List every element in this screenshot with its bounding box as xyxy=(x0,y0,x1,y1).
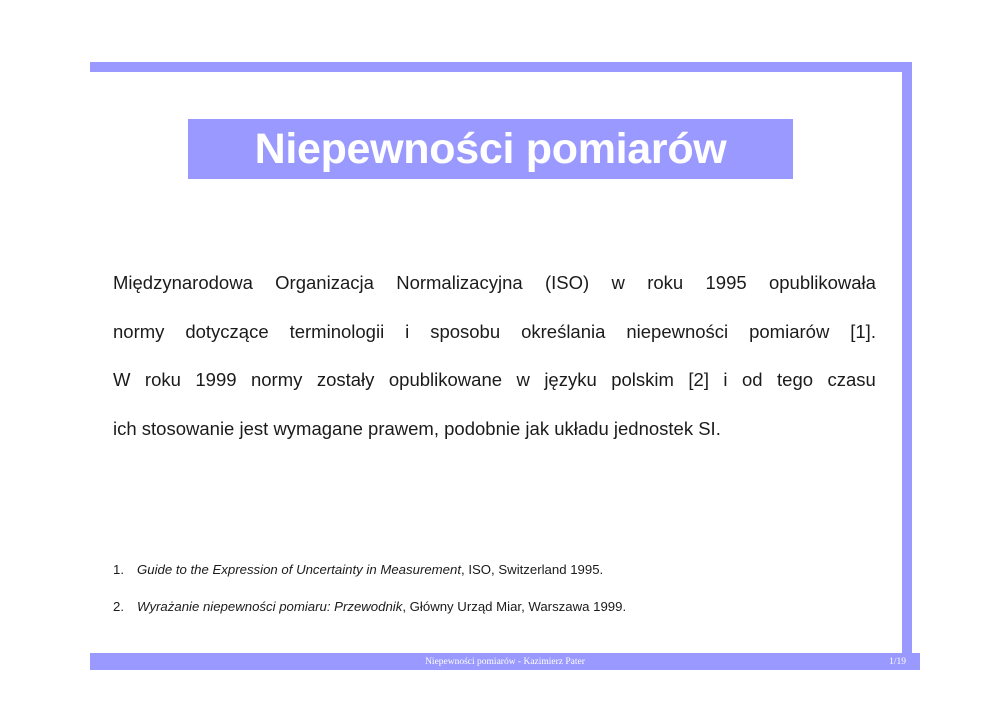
reference-details: , ISO, Switzerland 1995. xyxy=(461,562,603,577)
body-word: Międzynarodowa xyxy=(113,274,253,293)
body-word: pomiarów xyxy=(749,323,829,342)
body-word: jednostek xyxy=(614,420,693,439)
body-word: języku xyxy=(544,371,596,390)
body-word: określania xyxy=(521,323,605,342)
body-word: niepewności xyxy=(626,323,728,342)
slide-body: MiędzynarodowaOrganizacjaNormalizacyjna(… xyxy=(113,274,876,438)
footer-page-number: 1/19 xyxy=(889,653,906,670)
body-word: (ISO) xyxy=(545,274,589,293)
body-line-4: ich stosowanie jest wymagane prawem, pod… xyxy=(113,420,876,439)
body-word: sposobu xyxy=(430,323,500,342)
body-word: normy xyxy=(113,323,164,342)
body-word: opublikowane xyxy=(389,371,502,390)
body-word: w xyxy=(612,274,625,293)
body-word: SI. xyxy=(698,420,721,439)
body-word: opublikowała xyxy=(769,274,876,293)
body-word: podobnie xyxy=(444,420,520,439)
body-word: i xyxy=(723,371,727,390)
body-word: [2] xyxy=(688,371,709,390)
body-line-2: normydotycząceterminologiiisposobuokreśl… xyxy=(113,323,876,342)
body-word: Normalizacyjna xyxy=(396,274,522,293)
reference-title: Guide to the Expression of Uncertainty i… xyxy=(137,562,461,577)
body-word: jak xyxy=(525,420,549,439)
body-word: tego xyxy=(777,371,813,390)
reference-item: 1. Guide to the Expression of Uncertaint… xyxy=(113,563,883,576)
body-word: W xyxy=(113,371,130,390)
body-word: roku xyxy=(145,371,181,390)
slide-footer: Niepewności pomiarów - Kazimierz Pater 1… xyxy=(90,653,920,670)
reference-details: , Główny Urząd Miar, Warszawa 1999. xyxy=(402,599,626,614)
reference-item: 2. Wyrażanie niepewności pomiaru: Przewo… xyxy=(113,600,883,613)
slide-title-block: Niepewności pomiarów xyxy=(188,119,793,179)
body-word: stosowanie xyxy=(142,420,235,439)
body-word: w xyxy=(516,371,529,390)
body-word: układu xyxy=(554,420,609,439)
body-word: wymagane xyxy=(273,420,362,439)
body-word: [1]. xyxy=(850,323,876,342)
body-word: od xyxy=(742,371,763,390)
frame-top-border xyxy=(90,62,912,72)
reference-number: 2. xyxy=(113,600,137,613)
body-word: roku xyxy=(647,274,683,293)
body-word: dotyczące xyxy=(185,323,268,342)
footer-caption: Niepewności pomiarów - Kazimierz Pater xyxy=(90,653,920,670)
reference-list: 1. Guide to the Expression of Uncertaint… xyxy=(113,563,883,637)
body-line-3: Wroku1999normyzostałyopublikowanewjęzyku… xyxy=(113,371,876,390)
body-word: jest xyxy=(240,420,269,439)
body-line-1: MiędzynarodowaOrganizacjaNormalizacyjna(… xyxy=(113,274,876,293)
body-word: 1995 xyxy=(706,274,747,293)
reference-title: Wyrażanie niepewności pomiaru: Przewodni… xyxy=(137,599,402,614)
body-word: zostały xyxy=(317,371,375,390)
frame-right-border xyxy=(902,62,912,655)
body-word: i xyxy=(405,323,409,342)
reference-number: 1. xyxy=(113,563,137,576)
body-word: 1999 xyxy=(195,371,236,390)
body-word: ich xyxy=(113,420,137,439)
body-word: prawem, xyxy=(368,420,439,439)
body-word: terminologii xyxy=(290,323,385,342)
body-word: czasu xyxy=(828,371,876,390)
slide-canvas: Niepewności pomiarów MiędzynarodowaOrgan… xyxy=(0,0,992,701)
page-title: Niepewności pomiarów xyxy=(255,128,727,171)
body-word: Organizacja xyxy=(275,274,374,293)
body-word: normy xyxy=(251,371,302,390)
body-word: polskim xyxy=(611,371,674,390)
